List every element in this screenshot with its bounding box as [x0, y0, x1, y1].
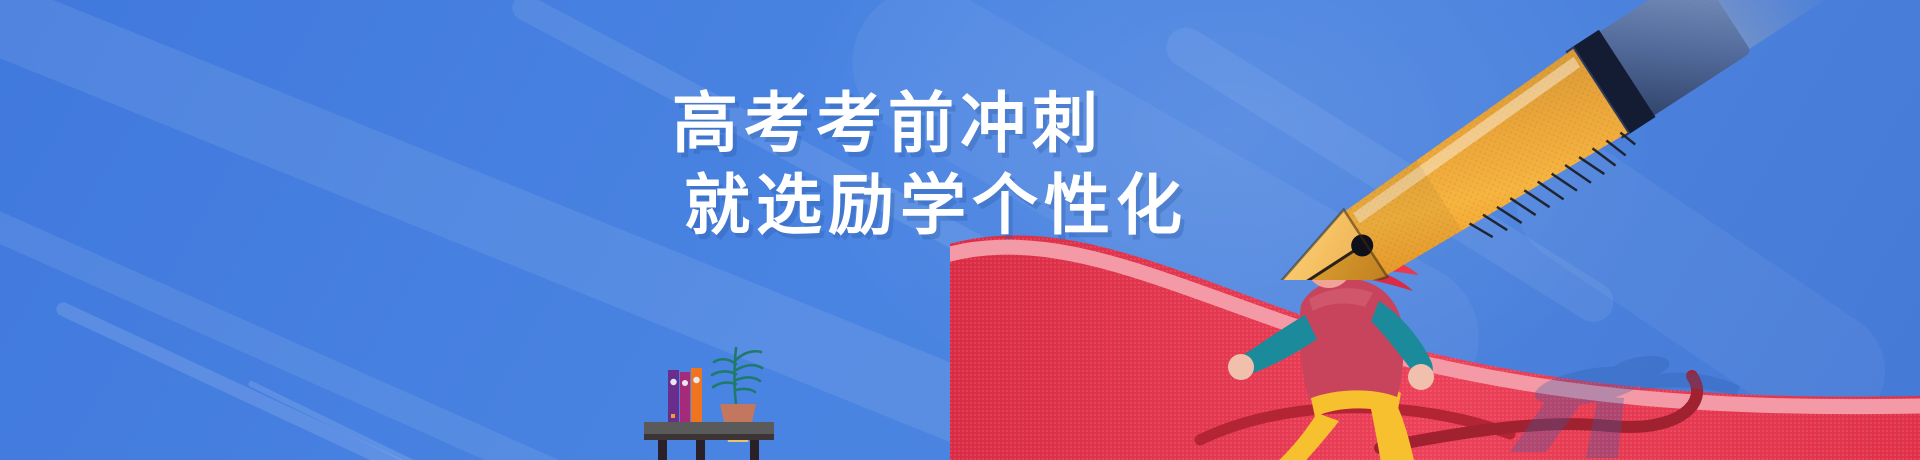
book-1-mark: [671, 414, 675, 418]
headline-line-2: 就选励学个性化: [684, 164, 1188, 246]
promo-banner: 高考考前冲刺 就选励学个性化: [0, 0, 1920, 460]
desk-leg-right: [750, 440, 759, 460]
streak-4: [247, 380, 627, 460]
desk-leg-left: [658, 440, 667, 460]
plant-pot-top: [720, 404, 756, 422]
pen-body-group: [1218, 0, 1847, 280]
book-2: [680, 372, 690, 422]
book-2-dot: [682, 380, 688, 386]
runner-front-hand: [1408, 364, 1434, 390]
desk-illustration: [628, 330, 788, 460]
runner-back-hand: [1228, 354, 1254, 380]
desk-top-edge: [644, 434, 774, 440]
plant-leaves: [712, 348, 762, 404]
fountain-pen-illustration: [1180, 0, 1900, 280]
book-3: [691, 368, 702, 422]
headline-line-1: 高考考前冲刺: [672, 82, 1188, 164]
book-stack: [668, 368, 702, 422]
streak-2: [0, 140, 662, 460]
desk-leg-mid: [696, 440, 705, 460]
headline-block: 高考考前冲刺 就选励学个性化: [672, 82, 1188, 246]
book-3-dot: [693, 377, 699, 383]
book-1-dot: [670, 379, 676, 385]
